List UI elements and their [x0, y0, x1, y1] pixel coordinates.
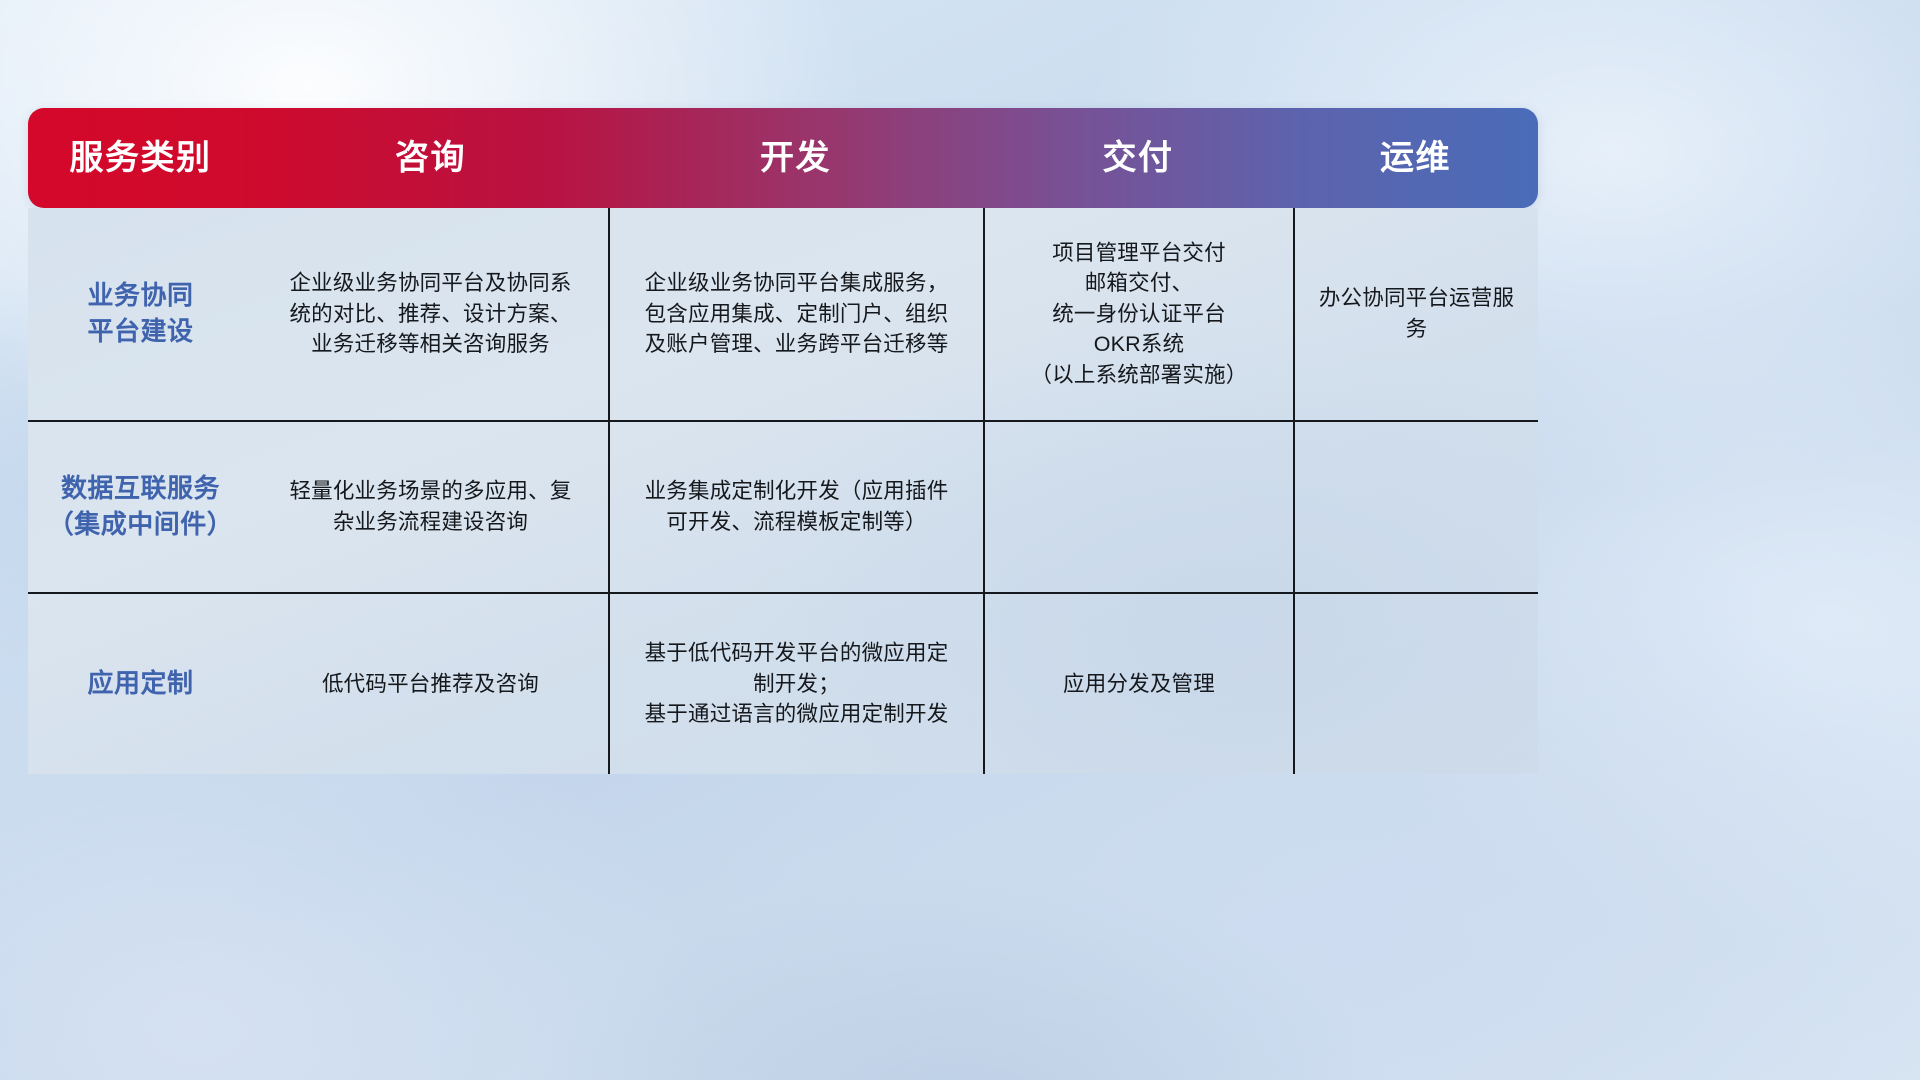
- column-header-development: 开发: [608, 141, 983, 175]
- table-row: 应用定制 低代码平台推荐及咨询 基于低代码开发平台的微应用定 制开发； 基于通过…: [28, 592, 1538, 774]
- table-row: 数据互联服务 （集成中间件） 轻量化业务场景的多应用、复 杂业务流程建设咨询 业…: [28, 420, 1538, 592]
- column-header-consulting: 咨询: [253, 141, 608, 175]
- cell-category: 业务协同 平台建设: [28, 208, 253, 420]
- cell-delivery: 项目管理平台交付 邮箱交付、 统一身份认证平台 OKR系统 （以上系统部署实施）: [983, 208, 1293, 420]
- table-body: 业务协同 平台建设 企业级业务协同平台及协同系 统的对比、推荐、设计方案、 业务…: [28, 208, 1538, 774]
- cell-consulting: 轻量化业务场景的多应用、复 杂业务流程建设咨询: [253, 422, 608, 592]
- service-matrix-table: 服务类别 咨询 开发 交付 运维 业务协同 平台建设 企业级业务协同平台及协同系…: [28, 108, 1538, 776]
- cell-consulting: 企业级业务协同平台及协同系 统的对比、推荐、设计方案、 业务迁移等相关咨询服务: [253, 208, 608, 420]
- cell-operations: 办公协同平台运营服务: [1293, 208, 1538, 420]
- column-header-operations: 运维: [1293, 141, 1538, 175]
- cell-development: 基于低代码开发平台的微应用定 制开发； 基于通过语言的微应用定制开发: [608, 594, 983, 774]
- cell-development: 企业级业务协同平台集成服务， 包含应用集成、定制门户、组织 及账户管理、业务跨平…: [608, 208, 983, 420]
- cell-development: 业务集成定制化开发（应用插件 可开发、流程模板定制等）: [608, 422, 983, 592]
- cell-delivery: 应用分发及管理: [983, 594, 1293, 774]
- table-row: 业务协同 平台建设 企业级业务协同平台及协同系 统的对比、推荐、设计方案、 业务…: [28, 208, 1538, 420]
- cell-delivery: [983, 422, 1293, 592]
- table-header-row: 服务类别 咨询 开发 交付 运维: [28, 108, 1538, 208]
- column-header-delivery: 交付: [983, 141, 1293, 175]
- cell-category: 应用定制: [28, 594, 253, 774]
- cell-operations: [1293, 422, 1538, 592]
- column-header-category: 服务类别: [28, 141, 253, 175]
- cell-operations: [1293, 594, 1538, 774]
- cell-consulting: 低代码平台推荐及咨询: [253, 594, 608, 774]
- cell-category: 数据互联服务 （集成中间件）: [28, 422, 253, 592]
